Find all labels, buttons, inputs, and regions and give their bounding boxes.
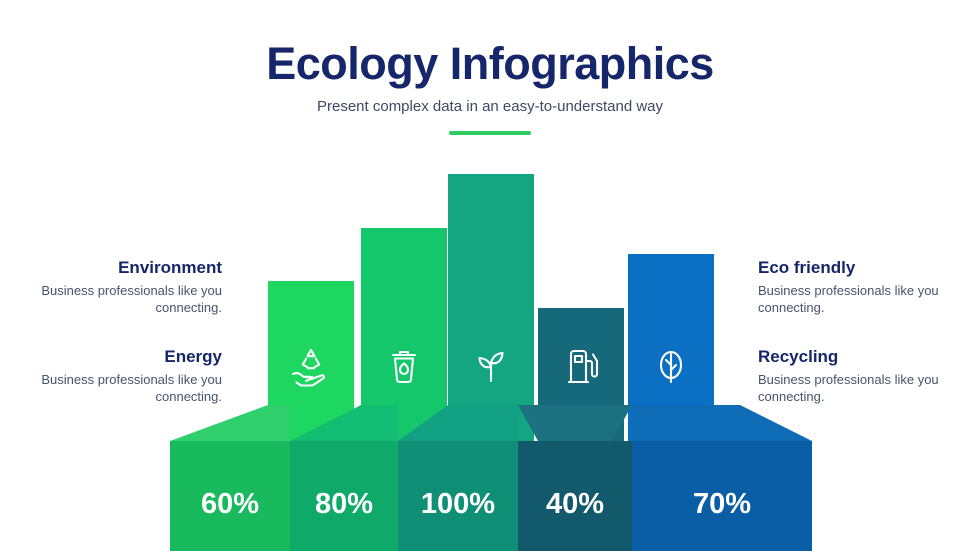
label-environment-heading: Environment [22, 258, 222, 278]
label-recycling-body: Business professionals like you connecti… [758, 371, 958, 405]
label-energy: Energy Business professionals like you c… [22, 347, 222, 405]
trash-bin-icon [380, 341, 428, 389]
page-title: Ecology Infographics [0, 0, 980, 90]
label-eco-friendly-heading: Eco friendly [758, 258, 958, 278]
label-environment-body: Business professionals like you connecti… [22, 282, 222, 316]
page-header: Ecology Infographics Present complex dat… [0, 0, 980, 135]
base-top-face-1 [170, 405, 290, 441]
label-environment: Environment Business professionals like … [22, 258, 222, 316]
value-label-5: 70% [693, 488, 751, 521]
label-recycling: Recycling Business professionals like yo… [758, 347, 958, 405]
recycle-hand-icon [287, 341, 335, 389]
bar-column-3 [448, 174, 534, 441]
base-block-5: 70% [632, 441, 812, 551]
label-eco-friendly: Eco friendly Business professionals like… [758, 258, 958, 316]
page-subtitle: Present complex data in an easy-to-under… [0, 90, 980, 115]
label-eco-friendly-body: Business professionals like you connecti… [758, 282, 958, 316]
base-block-3: 100% [398, 441, 518, 551]
sprout-icon [467, 341, 515, 389]
value-label-2: 80% [315, 488, 373, 521]
base-top-face-4 [518, 405, 632, 441]
base-block-2: 80% [290, 441, 398, 551]
label-energy-body: Business professionals like you connecti… [22, 371, 222, 405]
value-label-4: 40% [546, 488, 604, 521]
fuel-pump-icon [557, 341, 605, 389]
accent-divider [449, 131, 531, 135]
value-label-3: 100% [421, 488, 495, 521]
tree-icon [647, 341, 695, 389]
base-block-1: 60% [170, 441, 290, 551]
label-energy-heading: Energy [22, 347, 222, 367]
label-recycling-heading: Recycling [758, 347, 958, 367]
value-label-1: 60% [201, 488, 259, 521]
base-top-face-5 [632, 405, 812, 441]
base-block-4: 40% [518, 441, 632, 551]
